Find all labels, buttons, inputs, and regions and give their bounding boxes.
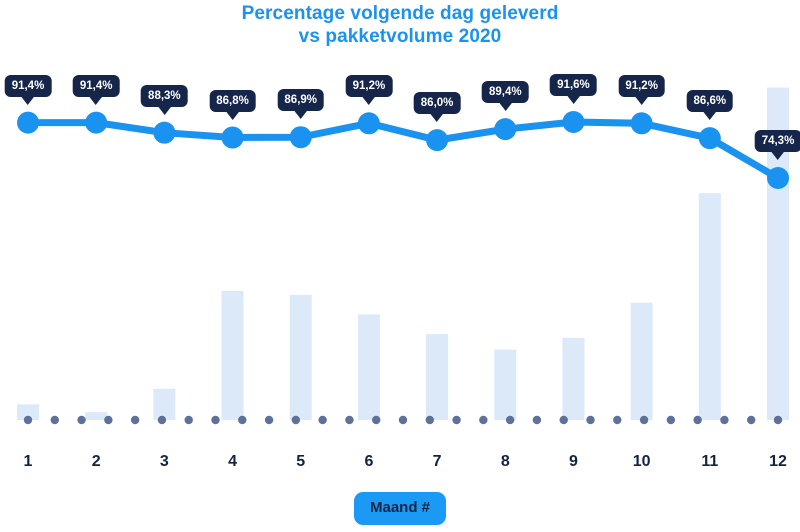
baseline-dot <box>479 416 487 424</box>
baseline-dot <box>185 416 193 424</box>
bar-month-7 <box>426 334 448 420</box>
line-marker-month-6[interactable] <box>358 112 380 134</box>
bar-month-11 <box>699 193 721 420</box>
baseline-dot <box>24 416 32 424</box>
baseline-dot <box>667 416 675 424</box>
bar-month-5 <box>290 295 312 420</box>
value-tooltip-month-4: 86,8% <box>209 90 256 112</box>
bar-month-4 <box>222 291 244 420</box>
line-marker-month-11[interactable] <box>699 127 721 149</box>
baseline-dot <box>77 416 85 424</box>
value-tooltip-month-1: 91,4% <box>5 75 52 97</box>
chart-canvas <box>0 0 800 440</box>
baseline-dot <box>720 416 728 424</box>
baseline-dot <box>318 416 326 424</box>
baseline-dot <box>426 416 434 424</box>
baseline-dot <box>613 416 621 424</box>
value-tooltip-month-3: 88,3% <box>141 85 188 107</box>
value-tooltip-month-11: 86,6% <box>687 90 734 112</box>
value-tooltip-month-8: 89,4% <box>482 81 529 103</box>
x-tick-10: 10 <box>633 452 651 472</box>
line-marker-month-8[interactable] <box>494 118 516 140</box>
value-tooltip-month-6: 91,2% <box>346 75 393 97</box>
bar-month-8 <box>494 350 516 420</box>
line-marker-month-12[interactable] <box>767 167 789 189</box>
x-tick-11: 11 <box>701 452 718 472</box>
value-tooltip-month-10: 91,2% <box>618 75 665 97</box>
value-tooltip-month-2: 91,4% <box>73 75 120 97</box>
line-marker-month-9[interactable] <box>562 111 584 133</box>
x-tick-1: 1 <box>24 452 33 472</box>
x-tick-7: 7 <box>433 452 442 472</box>
line-marker-month-1[interactable] <box>17 112 39 134</box>
baseline-dot <box>774 416 782 424</box>
x-tick-3: 3 <box>160 452 169 472</box>
baseline-dot <box>533 416 541 424</box>
value-tooltip-month-7: 86,0% <box>414 92 461 114</box>
bar-month-2 <box>85 412 107 420</box>
chart-container: Percentage volgende dag geleverd vs pakk… <box>0 0 800 532</box>
line-marker-month-7[interactable] <box>426 129 448 151</box>
x-tick-5: 5 <box>296 452 305 472</box>
baseline-dot <box>51 416 59 424</box>
value-tooltip-month-5: 86,9% <box>277 89 324 111</box>
baseline-dot-row <box>24 416 782 424</box>
baseline-dot <box>265 416 273 424</box>
x-axis-tick-labels: 123456789101112 <box>0 452 800 480</box>
baseline-dot <box>131 416 139 424</box>
baseline-dot <box>560 416 568 424</box>
baseline-dot <box>640 416 648 424</box>
x-axis-title-pill: Maand # <box>354 492 446 525</box>
line-marker-month-4[interactable] <box>222 127 244 149</box>
value-tooltip-month-12: 74,3% <box>755 130 800 152</box>
line-marker-month-5[interactable] <box>290 126 312 148</box>
baseline-dot <box>506 416 514 424</box>
baseline-dot <box>104 416 112 424</box>
x-tick-9: 9 <box>569 452 578 472</box>
baseline-dot <box>399 416 407 424</box>
line-marker-month-3[interactable] <box>153 122 175 144</box>
baseline-dot <box>238 416 246 424</box>
baseline-dot <box>345 416 353 424</box>
baseline-dot <box>747 416 755 424</box>
line-marker-series <box>17 111 789 189</box>
x-tick-8: 8 <box>501 452 510 472</box>
plot-area <box>0 0 800 440</box>
x-tick-6: 6 <box>364 452 373 472</box>
x-tick-4: 4 <box>228 452 237 472</box>
bar-month-9 <box>562 338 584 420</box>
baseline-dot <box>292 416 300 424</box>
x-tick-2: 2 <box>92 452 101 472</box>
bar-month-10 <box>631 303 653 420</box>
x-tick-12: 12 <box>769 452 787 472</box>
bar-series <box>17 88 789 420</box>
value-tooltip-month-9: 91,6% <box>550 74 597 96</box>
line-marker-month-10[interactable] <box>631 112 653 134</box>
baseline-dot <box>452 416 460 424</box>
baseline-dot <box>158 416 166 424</box>
baseline-dot <box>693 416 701 424</box>
baseline-dot <box>211 416 219 424</box>
line-marker-month-2[interactable] <box>85 112 107 134</box>
line-series <box>28 122 778 178</box>
baseline-dot <box>372 416 380 424</box>
bar-month-3 <box>153 389 175 420</box>
bar-month-6 <box>358 314 380 420</box>
baseline-dot <box>586 416 594 424</box>
